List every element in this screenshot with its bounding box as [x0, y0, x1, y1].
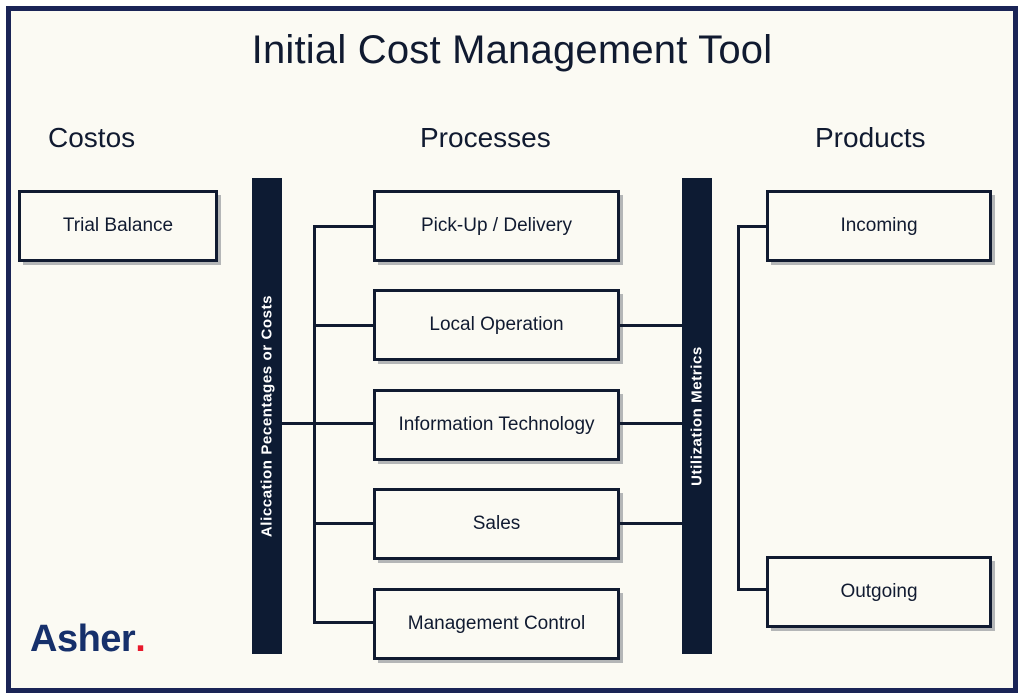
connector-to-incoming [737, 225, 766, 228]
utilization-bar-label: Utilization Metrics [689, 346, 706, 486]
connector-to-pick-up-delivery [313, 225, 373, 228]
asher-logo-dot: . [135, 618, 145, 661]
asher-logo: Asher . [30, 618, 145, 661]
connector-to-outgoing [737, 588, 766, 591]
slide-canvas: Initial Cost Management Tool Costos Proc… [0, 0, 1024, 699]
column-heading-costos: Costos [48, 122, 135, 154]
connector-to-local-operation [313, 324, 373, 327]
node-trial-balance[interactable]: Trial Balance [18, 190, 218, 262]
page-title: Initial Cost Management Tool [0, 28, 1024, 73]
node-sales[interactable]: Sales [373, 488, 620, 560]
column-heading-processes: Processes [420, 122, 551, 154]
allocation-percentages-bar: Aliccation Pecentages or Costs [252, 178, 282, 654]
node-incoming[interactable]: Incoming [766, 190, 992, 262]
connector-to-sales [313, 522, 373, 525]
connector-local-operation-to-utilization [620, 324, 682, 327]
asher-logo-wordmark: Asher [30, 618, 135, 661]
node-pick-up-delivery[interactable]: Pick-Up / Delivery [373, 190, 620, 262]
node-information-technology[interactable]: Information Technology [373, 389, 620, 461]
connector-sales-to-utilization [620, 522, 682, 525]
utilization-metrics-bar: Utilization Metrics [682, 178, 712, 654]
allocation-bar-label: Aliccation Pecentages or Costs [259, 295, 276, 537]
connector-allocation-bar-to-process-trunk [282, 422, 315, 425]
connector-information-technology-to-utilization [620, 422, 682, 425]
connector-to-management-control [313, 621, 373, 624]
node-local-operation[interactable]: Local Operation [373, 289, 620, 361]
connector-products-trunk [737, 225, 740, 591]
node-management-control[interactable]: Management Control [373, 588, 620, 660]
column-heading-products: Products [815, 122, 926, 154]
node-outgoing[interactable]: Outgoing [766, 556, 992, 628]
connector-to-information-technology [313, 422, 373, 425]
